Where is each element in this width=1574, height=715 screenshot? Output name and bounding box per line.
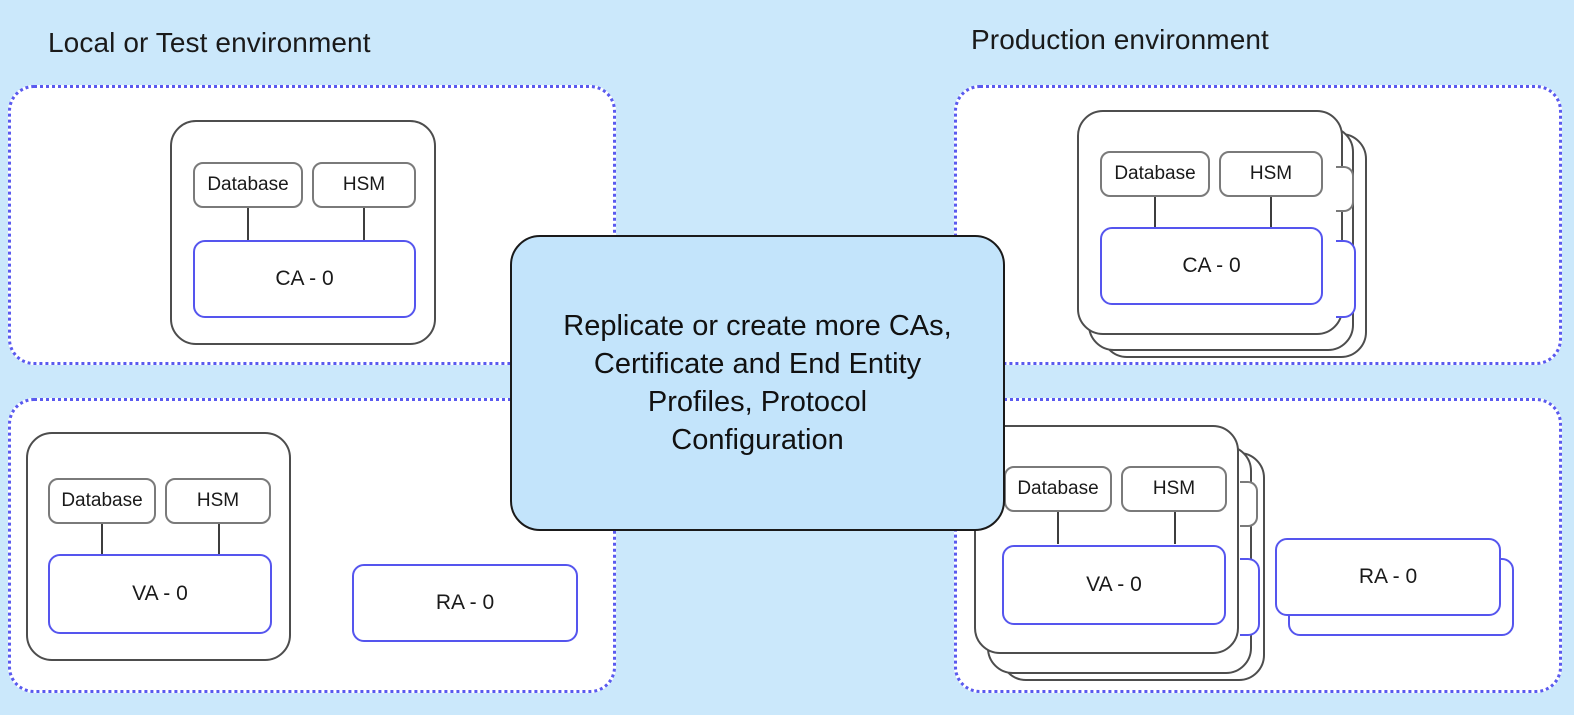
local-ca-database-connector xyxy=(247,208,249,242)
production-va-hsm-connector xyxy=(1174,512,1176,544)
local-va-service-box: VA - 0 xyxy=(48,554,272,634)
production-ca-hsm-connector xyxy=(1270,197,1272,229)
production-va-service-box-stack-layer-2 xyxy=(1240,558,1260,636)
replication-callout-text: Replicate or create more CAs,Certificate… xyxy=(535,307,979,459)
production-va-hsm-box: HSM xyxy=(1121,466,1227,512)
production-ca-hsm-box: HSM xyxy=(1219,151,1323,197)
production-ca-service-box: CA - 0 xyxy=(1100,227,1323,305)
production-ca-database-connector xyxy=(1154,197,1156,229)
production-ca-hsm-box-stack-layer-2 xyxy=(1336,166,1354,212)
replication-callout: Replicate or create more CAs,Certificate… xyxy=(510,235,1005,531)
diagram-canvas: Local or Test environment Database HSM C… xyxy=(0,0,1574,715)
production-va-database-connector xyxy=(1057,512,1059,544)
local-va-hsm-box: HSM xyxy=(165,478,271,524)
production-ra-service-box: RA - 0 xyxy=(1275,538,1501,616)
production-environment-title: Production environment xyxy=(971,24,1269,56)
production-ca-service-box-stack-layer-2 xyxy=(1336,240,1356,318)
local-ca-hsm-box: HSM xyxy=(312,162,416,208)
local-ra-service-box: RA - 0 xyxy=(352,564,578,642)
local-va-database-box: Database xyxy=(48,478,156,524)
local-ca-hsm-connector xyxy=(363,208,365,242)
production-va-database-box: Database xyxy=(1004,466,1112,512)
local-ca-database-box: Database xyxy=(193,162,303,208)
local-environment-title: Local or Test environment xyxy=(48,27,371,59)
local-ca-service-box: CA - 0 xyxy=(193,240,416,318)
production-va-hsm-box-stack-layer-2 xyxy=(1240,481,1258,527)
local-va-database-connector xyxy=(101,524,103,556)
production-ca-database-box: Database xyxy=(1100,151,1210,197)
production-va-service-box: VA - 0 xyxy=(1002,545,1226,625)
local-va-hsm-connector xyxy=(218,524,220,556)
